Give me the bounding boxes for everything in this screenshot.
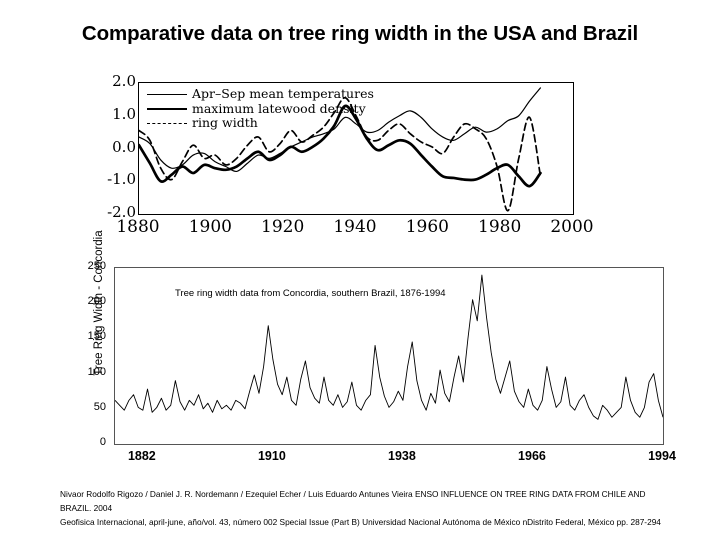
bottom-ytick-label: 200 [66, 295, 106, 307]
bottom-ytick-mark [114, 374, 115, 375]
top-xtick-label: 1920 [253, 217, 313, 237]
bottom-xtick-label: 1938 [372, 449, 432, 463]
top-xtick-mark [428, 214, 429, 215]
top-chart: Apr–Sep mean temperatures maximum latewo… [78, 76, 640, 246]
top-ytick-label: 0.0 [90, 138, 136, 156]
top-ytick-label: 2.0 [90, 72, 136, 90]
bottom-ytick-label: 50 [66, 401, 106, 413]
bottom-xtick-label: 1882 [112, 449, 172, 463]
legend-key-line-dashed [147, 117, 187, 129]
bottom-chart-annotation: Tree ring width data from Concordia, sou… [175, 288, 446, 299]
bottom-xtick-mark [662, 444, 663, 445]
top-ytick-mark [138, 214, 139, 215]
slide-caption: Nivaor Rodolfo Rigozo / Daniel J. R. Nor… [60, 487, 678, 529]
legend-label-temperatures: Apr–Sep mean temperatures [192, 87, 374, 102]
bottom-ytick-label: 250 [66, 260, 106, 272]
top-xtick-label: 1900 [180, 217, 240, 237]
top-ytick-mark [138, 116, 139, 117]
top-xtick-label: 1940 [325, 217, 385, 237]
legend-key-line-thick [147, 103, 187, 115]
top-ytick-label: 1.0 [90, 105, 136, 123]
bottom-plot-area: Tree ring width data from Concordia, sou… [114, 267, 664, 445]
bottom-ytick-mark [114, 444, 115, 445]
caption-line-2: Geofisica Internacional, april-june, año… [60, 515, 678, 529]
bottom-ytick-label: 0 [66, 436, 106, 448]
bottom-xtick-label: 1910 [242, 449, 302, 463]
bottom-xtick-mark [403, 444, 404, 445]
top-xtick-mark [501, 214, 502, 215]
top-xtick-mark [356, 214, 357, 215]
bottom-xtick-label: 1994 [632, 449, 692, 463]
legend-entry-ringwidth: ring width [147, 116, 374, 131]
top-ytick-mark [138, 149, 139, 150]
top-xtick-label: 2000 [542, 217, 602, 237]
page-title: Comparative data on tree ring width in t… [0, 22, 720, 46]
bottom-ytick-mark [114, 409, 115, 410]
caption-line-1: Nivaor Rodolfo Rigozo / Daniel J. R. Nor… [60, 487, 678, 515]
top-ytick-label: -1.0 [90, 170, 136, 188]
top-xtick-label: 1960 [397, 217, 457, 237]
top-ytick-mark [138, 181, 139, 182]
top-xtick-label: 1880 [108, 217, 168, 237]
bottom-xtick-mark [533, 444, 534, 445]
bottom-ytick-mark [114, 338, 115, 339]
bottom-chart: Tree Ring Width - Concordia Tree ring wi… [58, 263, 658, 468]
legend-label-ringwidth: ring width [192, 116, 258, 131]
bottom-ytick-label: 150 [66, 330, 106, 342]
top-chart-legend: Apr–Sep mean temperatures maximum latewo… [147, 87, 374, 131]
bottom-ytick-mark [114, 303, 115, 304]
bottom-ytick-mark [114, 268, 115, 269]
top-plot-area: Apr–Sep mean temperatures maximum latewo… [138, 82, 574, 215]
legend-key-line-thin [147, 88, 187, 100]
bottom-xtick-mark [143, 444, 144, 445]
top-xtick-mark [211, 214, 212, 215]
legend-entry-temperatures: Apr–Sep mean temperatures [147, 87, 374, 102]
legend-label-density: maximum latewood density [192, 102, 366, 117]
bottom-xtick-label: 1966 [502, 449, 562, 463]
bottom-xtick-mark [273, 444, 274, 445]
legend-entry-density: maximum latewood density [147, 102, 374, 117]
bottom-ytick-label: 100 [66, 366, 106, 378]
top-xtick-label: 1980 [470, 217, 530, 237]
top-xtick-mark [284, 214, 285, 215]
top-ytick-mark [138, 83, 139, 84]
